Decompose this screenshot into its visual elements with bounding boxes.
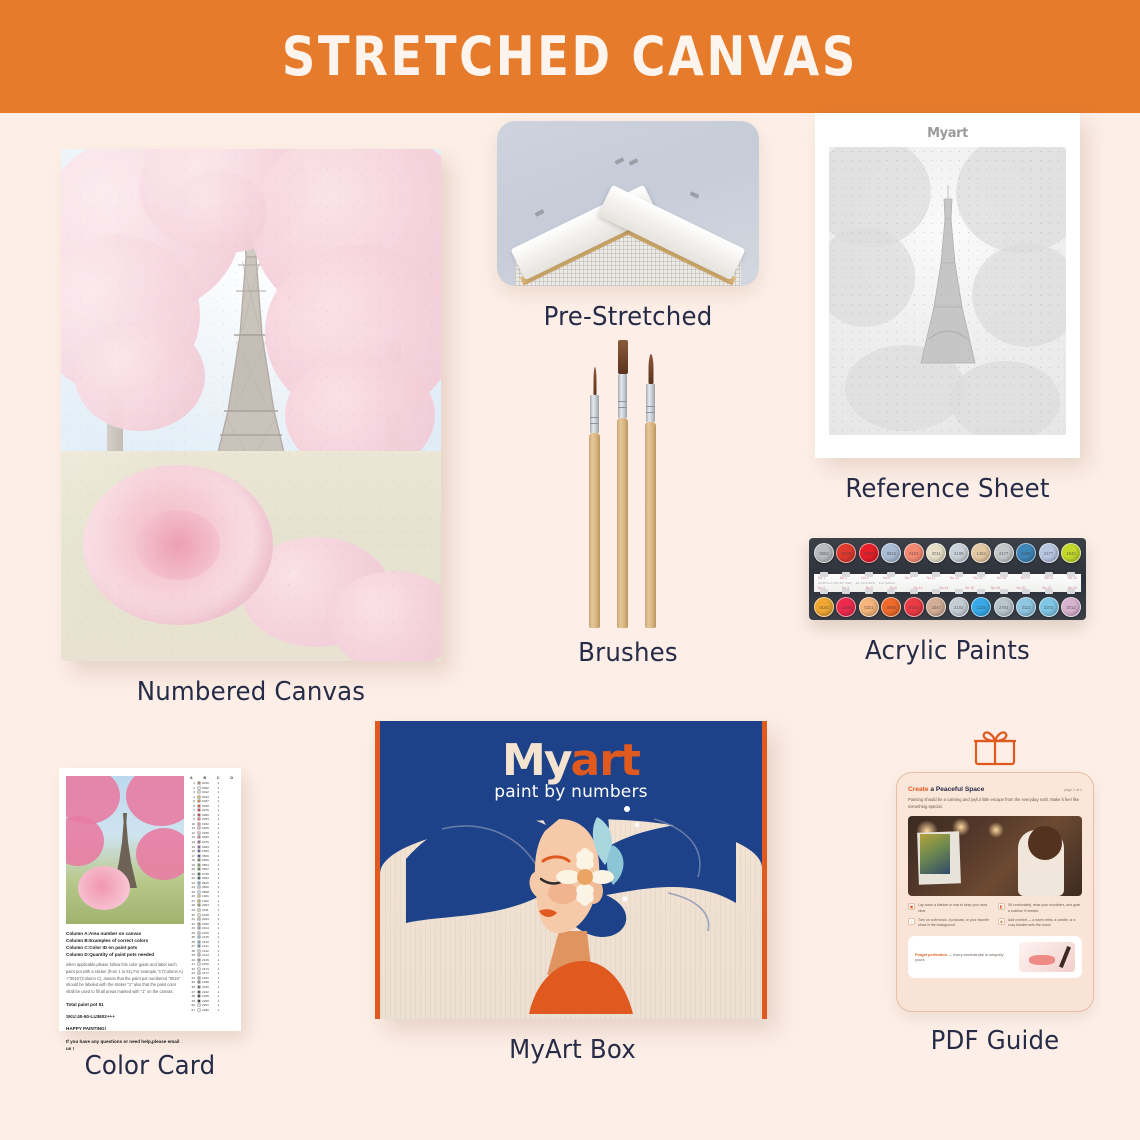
color-card-instructions: when applicable,please follow this color… [66, 962, 184, 995]
swatch-color [197, 885, 201, 889]
blossom [136, 828, 184, 880]
swatch-index: 7 [189, 808, 195, 812]
swatch-code: 2016 [202, 985, 216, 989]
pdf-tip: ♪Turn on soft music, a podcast, or your … [908, 918, 992, 929]
swatch-color [197, 958, 201, 962]
painting-on-easel [920, 834, 950, 874]
swatch-qty: 1 [218, 953, 223, 957]
pot-body: 0960 [881, 597, 901, 617]
swatch-color [197, 876, 201, 880]
swatch-qty: 1 [218, 903, 223, 907]
pot-body: 0152 [904, 597, 924, 617]
swatch-qty: 1 [218, 922, 223, 926]
swatch-index: 43 [189, 971, 195, 975]
swatch-qty: 1 [218, 808, 223, 812]
swatch-index: 5 [189, 799, 195, 803]
paint-pot: 2012 [1061, 593, 1081, 623]
item-numbered-canvas[interactable]: Numbered Canvas [55, 149, 447, 707]
swatch-code: 2130 [202, 940, 216, 944]
swatch-qty: 1 [218, 872, 223, 876]
paint-pot: 2125 [971, 593, 991, 623]
swatch-qty: 1 [218, 999, 223, 1003]
strip-description: ACRYLIC PAINT SET · 24 COLORS · 3ml EACH [818, 581, 1077, 585]
swatch-qty: 1 [218, 840, 223, 844]
pot-tab [955, 589, 963, 594]
swatch-qty: 1 [218, 835, 223, 839]
swatch-index: 25 [189, 890, 195, 894]
pot-body: 2204 [1039, 597, 1059, 617]
pdf-footer-callout: Forget perfection — every brushstroke is… [908, 936, 1082, 978]
swatch-code: 2145 [202, 958, 216, 962]
acrylic-paints-image: 0002022802760815015220112109140421772130… [809, 538, 1086, 620]
swatch-index: 22 [189, 876, 195, 880]
paint-pot: 1042 [1061, 543, 1081, 573]
pot-tab [910, 572, 918, 577]
swatch-qty: 1 [218, 980, 223, 984]
logo-subtitle: paint by numbers [380, 782, 762, 802]
swatch-qty: 1 [218, 976, 223, 980]
color-card-swatch-table: A B C D 10016120002130012140153150187160… [189, 776, 234, 1023]
pot-id: 2011 [927, 544, 945, 562]
pot-body: 2247 [926, 597, 946, 617]
pot-body: 2112 [1016, 597, 1036, 617]
legend-line: Column A:Area number on canvas [66, 930, 184, 937]
paint-pot: 2177 [1039, 543, 1059, 573]
swatch-qty: 1 [218, 881, 223, 885]
reference-sheet-logo: Myart [829, 126, 1066, 141]
swatch-index: 23 [189, 881, 195, 885]
pot-tab [1000, 589, 1008, 594]
swatch-row: 5122621 [189, 1008, 234, 1012]
strip-code: No.14 [939, 586, 948, 590]
swatch-index: 39 [189, 953, 195, 957]
logo-my-text: My [502, 735, 570, 786]
total-paint-pots: Total paint pot 51 [66, 1001, 184, 1008]
pot-id: 1404 [972, 544, 990, 562]
swatch-index: 29 [189, 908, 195, 912]
pdf-tip: ▣Lay down a blanket or mat to keep your … [908, 903, 992, 914]
pot-body: 0221 [859, 597, 879, 617]
swatch-code: 2174 [202, 967, 216, 971]
swatch-index: 27 [189, 899, 195, 903]
swatch-code: 0228 [202, 804, 216, 808]
paint-pot: 0140 [814, 593, 834, 623]
pot-id: 2247 [927, 598, 945, 616]
swatch-qty: 1 [218, 822, 223, 826]
swatch-code: 0155 [202, 831, 216, 835]
swatch-code: 0002 [202, 786, 216, 790]
pot-body: 2177 [1039, 543, 1059, 563]
swatch-color [197, 822, 201, 826]
swatch-color [197, 926, 201, 930]
swatch-index: 15 [189, 845, 195, 849]
swatch-index: 46 [189, 985, 195, 989]
swatch-code: 0150 [202, 826, 216, 830]
swatch-qty: 1 [218, 908, 223, 912]
pot-body: 1042 [1061, 543, 1081, 563]
swatch-code: 0745 [202, 872, 216, 876]
warm-light [988, 822, 1004, 838]
item-color-card[interactable]: Column A:Area number on canvas Column B:… [20, 768, 280, 1081]
pot-body: 2102 [949, 597, 969, 617]
page-title: STRETCHED CANVAS [282, 25, 858, 88]
pdf-title: Create a Peaceful Space [908, 786, 984, 793]
swatch-index: 37 [189, 944, 195, 948]
pot-id: 0280 [837, 598, 855, 616]
paint-pot: 2177 [994, 543, 1014, 573]
pot-id: 0002 [815, 544, 833, 562]
pot-body: 0002 [814, 543, 834, 563]
swatch-color [197, 922, 201, 926]
paint-label-strip: No.1No.2No.3No.5No.7No.11No.13No.15No.18… [814, 574, 1081, 592]
swatch-color [197, 917, 201, 921]
pot-id: 0152 [905, 544, 923, 562]
swatch-code: 0363 [202, 849, 216, 853]
rose [78, 866, 130, 910]
numbered-canvas-image [61, 149, 441, 661]
paint-pot: 0276 [859, 543, 879, 573]
pot-id: 2109 [950, 544, 968, 562]
pot-id: 0276 [860, 544, 878, 562]
strip-code: No.16 [965, 586, 974, 590]
pot-tab [865, 589, 873, 594]
swatch-color [197, 790, 201, 794]
swatch-index: 11 [189, 826, 195, 830]
pot-tab [977, 572, 985, 577]
paint-pot: 0815 [881, 543, 901, 573]
pot-id: 2177 [1040, 544, 1058, 562]
caption-reference-sheet: Reference Sheet [809, 474, 1086, 504]
item-brushes[interactable]: Brushes [497, 338, 759, 668]
item-reference-sheet[interactable]: Myart [800, 113, 1095, 504]
pdf-photo [908, 816, 1082, 896]
swatch-code: 0187 [202, 799, 216, 803]
swatch-qty: 1 [218, 799, 223, 803]
swatch-index: 32 [189, 922, 195, 926]
swatch-index: 10 [189, 822, 195, 826]
swatch-code: 0650 [202, 858, 216, 862]
strip-codes-line-2: No.2No.4No.6No.8No.12No.14No.16No.18No.2… [818, 586, 1077, 590]
paint-pot: 2784 [994, 593, 1014, 623]
swatch-color [197, 994, 201, 998]
brush-flat [617, 340, 628, 628]
paint-pot: 2247 [926, 593, 946, 623]
swatch-index: 1 [189, 781, 195, 785]
swatch-qty: 1 [218, 940, 223, 944]
col-b: B [203, 776, 206, 780]
swatch-color [197, 931, 201, 935]
pdf-tip-text: Add comfort — a warm drink, a candle, or… [1008, 918, 1082, 929]
pdf-tip-text: Lay down a blanket or mat to keep your a… [918, 903, 992, 914]
staple-icon [690, 191, 700, 199]
swatch-qty: 1 [218, 786, 223, 790]
paint-pot: 2130 [1016, 543, 1036, 573]
swatch-code: 2242 [202, 990, 216, 994]
caption-acrylic-paints: Acrylic Paints [809, 636, 1086, 666]
swatch-code: 2188 [202, 980, 216, 984]
brush-icon [1059, 946, 1071, 968]
candle-icon: ◈ [998, 918, 1005, 925]
paint-pot: 2011 [926, 543, 946, 573]
col-d: D [230, 776, 233, 780]
swatch-index: 38 [189, 949, 195, 953]
swatch-index: 21 [189, 872, 195, 876]
pot-tab [1067, 589, 1075, 594]
swatch-code: 0824 [202, 876, 216, 880]
col-a: A [190, 776, 193, 780]
item-myart-box[interactable]: Myart paint by numbers [375, 721, 770, 1065]
pot-id: 2130 [1017, 544, 1035, 562]
swatch-color [197, 903, 201, 907]
woman-profile-icon [501, 799, 641, 1014]
reference-sheet-artwork [829, 147, 1066, 435]
pot-tab [1067, 572, 1075, 577]
pot-id: 2012 [1062, 598, 1080, 616]
reference-sheet-image: Myart [815, 113, 1080, 458]
page-header: STRETCHED CANVAS [0, 0, 1140, 113]
pot-body: 0140 [814, 597, 834, 617]
pot-body: 2130 [1016, 543, 1036, 563]
swatch-code: 0016 [202, 781, 216, 785]
item-pre-stretched[interactable]: Pre-Stretched [497, 121, 759, 332]
pot-body: 2109 [949, 543, 969, 563]
swatch-qty: 1 [218, 849, 223, 853]
swatch-color [197, 962, 201, 966]
swatch-code: 2011 [202, 908, 216, 912]
swatch-color [197, 804, 201, 808]
swatch-qty: 1 [218, 1003, 223, 1007]
pot-tab [1022, 572, 1030, 577]
swatch-code: 2142 [202, 949, 216, 953]
swatch-index: 42 [189, 967, 195, 971]
swatch-code: 2181 [202, 976, 216, 980]
swatch-qty: 1 [218, 831, 223, 835]
paint-pot: 2204 [1039, 593, 1059, 623]
swatch-code: 0336 [202, 835, 216, 839]
swatch-color [197, 971, 201, 975]
swatch-color [197, 913, 201, 917]
swatch-index: 45 [189, 980, 195, 984]
music-icon: ♪ [908, 918, 915, 925]
swatch-color [197, 967, 201, 971]
swatch-color [197, 858, 201, 862]
pot-body: 0276 [859, 543, 879, 563]
pre-stretched-image [497, 121, 759, 286]
swatch-qty: 1 [218, 962, 223, 966]
item-pdf-guide[interactable]: Create a Peaceful Space page 1 of 1 Pain… [880, 728, 1110, 1056]
paint-pot: 2112 [1016, 593, 1036, 623]
pot-body: 0152 [904, 543, 924, 563]
swatch-index: 36 [189, 940, 195, 944]
pot-id: 2784 [995, 598, 1013, 616]
swatch-index: 30 [189, 913, 195, 917]
swatch-qty: 1 [218, 899, 223, 903]
pot-id: 0221 [860, 598, 878, 616]
caption-brushes: Brushes [505, 638, 751, 668]
pot-id: 0140 [815, 598, 833, 616]
swatch-code: 2177 [202, 971, 216, 975]
paint-pot: 0152 [904, 543, 924, 573]
swatch-qty: 1 [218, 931, 223, 935]
swatch-code: 2141 [202, 944, 216, 948]
gift-box-icon [972, 728, 1018, 766]
pdf-guide-image: Create a Peaceful Space page 1 of 1 Pain… [896, 772, 1094, 1012]
staple-icon [535, 209, 545, 217]
pot-id: 0152 [905, 598, 923, 616]
caption-pdf-guide: PDF Guide [887, 1026, 1103, 1056]
pot-id: 2112 [1017, 598, 1035, 616]
pdf-title-rest: a Peaceful Space [929, 786, 985, 793]
swatch-code: 1001 [202, 894, 216, 898]
swatch-color [197, 849, 201, 853]
swatch-code: 0153 [202, 795, 216, 799]
swatch-code: 2261 [202, 1003, 216, 1007]
swatch-code: 0276 [202, 808, 216, 812]
swatch-color [197, 786, 201, 790]
swatch-index: 18 [189, 858, 195, 862]
swatch-qty: 1 [218, 817, 223, 821]
swatch-index: 13 [189, 835, 195, 839]
pot-body: 2177 [994, 543, 1014, 563]
swatch-color [197, 881, 201, 885]
pot-body: 2012 [1061, 597, 1081, 617]
swatch-color [197, 999, 201, 1003]
illustration-woman [501, 799, 641, 1014]
myart-box-image: Myart paint by numbers [375, 721, 767, 1019]
swatch-index: 44 [189, 976, 195, 980]
swatch-code: 2238 [202, 994, 216, 998]
seat-icon: ◧ [998, 903, 1005, 910]
swatch-index: 9 [189, 817, 195, 821]
swatch-color [197, 990, 201, 994]
pdf-footer-text: Forget perfection — every brushstroke is… [915, 952, 1013, 964]
swatch-code: 0564 [202, 863, 216, 867]
swatch-code: 0826 [202, 885, 216, 889]
pot-body: 0815 [881, 543, 901, 563]
swatch-qty: 1 [218, 876, 223, 880]
pdf-footer-thumb [1019, 942, 1075, 972]
pot-tab [1045, 589, 1053, 594]
pot-tab [977, 589, 985, 594]
swatch-color [197, 1008, 201, 1012]
swatch-color [197, 894, 201, 898]
swatch-index: 20 [189, 867, 195, 871]
pot-tab [910, 589, 918, 594]
brush-stroke [1029, 955, 1055, 965]
swatch-qty: 1 [218, 967, 223, 971]
paint-pot: 0960 [881, 593, 901, 623]
pot-id: 0815 [882, 544, 900, 562]
color-card-left-column: Column A:Area number on canvas Column B:… [66, 776, 184, 1023]
swatch-qty: 1 [218, 867, 223, 871]
pot-id: 0228 [837, 544, 855, 562]
pot-tab [955, 572, 963, 577]
swatch-index: 3 [189, 790, 195, 794]
swatch-color [197, 1003, 201, 1007]
paint-pot: 0280 [836, 593, 856, 623]
swatch-index: 28 [189, 903, 195, 907]
myart-logo: Myart paint by numbers [380, 735, 762, 802]
paint-pot: 2109 [949, 543, 969, 573]
product-contents-grid: Numbered Canvas Pre-Stretched Myart [0, 113, 1140, 1140]
swatch-index: 12 [189, 831, 195, 835]
swatch-qty: 1 [218, 990, 223, 994]
swatch-index: 48 [189, 994, 195, 998]
legend-line: Column D:Quantity of paint pots needed [66, 951, 184, 958]
swatch-code: 2109 [202, 931, 216, 935]
pot-body: 2784 [994, 597, 1014, 617]
swatch-qty: 1 [218, 958, 223, 962]
swatch-code: 0254 [202, 817, 216, 821]
swatch-code: 0152 [202, 822, 216, 826]
strip-codes-line-1: No.1No.2No.3No.5No.7No.11No.13No.15No.18… [818, 576, 1077, 580]
swatch-color [197, 840, 201, 844]
swatch-color [197, 813, 201, 817]
swatch-qty: 1 [218, 935, 223, 939]
swatch-index: 50 [189, 1003, 195, 1007]
swatch-color [197, 949, 201, 953]
col-c: C [217, 776, 220, 780]
swatch-qty: 1 [218, 994, 223, 998]
swatch-color [197, 845, 201, 849]
strip-code: No.18 [991, 586, 1000, 590]
swatch-index: 4 [189, 795, 195, 799]
paint-pot: 0002 [814, 543, 834, 573]
pot-body: 2125 [971, 597, 991, 617]
canvas-gloss-overlay [61, 149, 441, 661]
pot-tab [1022, 589, 1030, 594]
swatch-index: 47 [189, 990, 195, 994]
swatch-color [197, 863, 201, 867]
swatch-color [197, 908, 201, 912]
swatch-qty: 1 [218, 813, 223, 817]
color-card-text: Column A:Area number on canvas Column B:… [66, 930, 184, 1052]
swatch-code: 2024 [202, 917, 216, 921]
swatch-color [197, 781, 201, 785]
brush-thin-round [589, 380, 600, 628]
swatch-qty: 1 [218, 826, 223, 830]
swatch-code: 2152 [202, 962, 216, 966]
pot-tab [932, 589, 940, 594]
item-acrylic-paints[interactable]: 0002022802760815015220112109140421772130… [800, 538, 1095, 666]
swatch-code: 0379 [202, 840, 216, 844]
pdf-intro-text: Painting should be a calming and joyful … [908, 797, 1082, 810]
logo-art-text: art [571, 735, 640, 786]
swatch-index: 34 [189, 931, 195, 935]
pot-tab [820, 589, 828, 594]
swatch-qty: 1 [218, 790, 223, 794]
pdf-tip-text: Turn on soft music, a podcast, or your f… [918, 918, 992, 929]
pot-tab [887, 589, 895, 594]
swatch-color [197, 854, 201, 858]
happy-painting-text: HAPPY PAINTING! [66, 1025, 184, 1032]
swatch-color [197, 980, 201, 984]
swatch-index: 35 [189, 935, 195, 939]
swatch-index: 49 [189, 999, 195, 1003]
caption-color-card: Color Card [28, 1051, 272, 1081]
swatch-qty: 1 [218, 795, 223, 799]
pot-tab [842, 572, 850, 577]
swatch-code: 2260 [202, 999, 216, 1003]
swatch-qty: 1 [218, 890, 223, 894]
paint-pot-row-top: 0002022802760815015220112109140421772130… [814, 543, 1081, 573]
swatch-color [197, 817, 201, 821]
caption-pre-stretched: Pre-Stretched [505, 302, 751, 332]
swatch-code: 2018 [202, 913, 216, 917]
reference-number-dots [829, 147, 1066, 435]
staple-icon [615, 157, 625, 165]
staple-icon [629, 158, 639, 166]
